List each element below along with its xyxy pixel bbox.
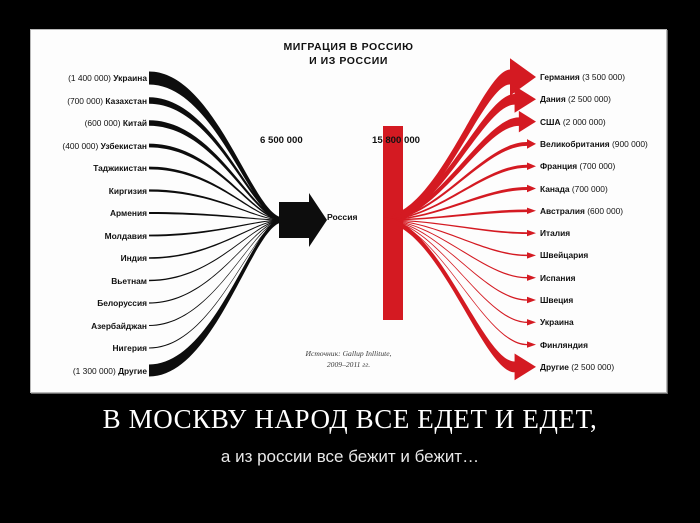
inbound-label-value: (700 000) <box>67 96 103 106</box>
demotivational-poster: МИГРАЦИЯ В РОССИЮ И ИЗ РОССИИ (1 400 000… <box>0 0 700 523</box>
source-citation: Источник: Gallup Inllitute, 2009–2011 гг… <box>31 348 666 370</box>
inbound-flow-band-8 <box>149 220 283 237</box>
inbound-label-10: Вьетнам <box>111 276 147 286</box>
inbound-label-name: Киргизия <box>109 186 147 196</box>
poster-subcaption: а из россии все бежит и бежит… <box>0 447 700 467</box>
outbound-label-name: Франция <box>540 161 577 171</box>
outbound-label-name: Канада <box>540 184 570 194</box>
outbound-label-10: Испания <box>540 273 576 283</box>
outbound-label-name: Украина <box>540 317 574 327</box>
outbound-label-12: Украина <box>540 317 574 327</box>
inbound-label-12: Азербайджан <box>91 321 147 331</box>
inbound-label-value: (600 000) <box>85 118 121 128</box>
inbound-label-11: Белоруссия <box>97 298 147 308</box>
outbound-label-name: Германия <box>540 72 580 82</box>
inbound-label-2: (700 000) Казахстан <box>67 96 147 106</box>
outbound-label-value: (700 000) <box>580 161 616 171</box>
outbound-label-name: Дания <box>540 94 566 104</box>
inbound-label-name: Казахстан <box>105 96 147 106</box>
inbound-flow-group <box>149 72 283 377</box>
outbound-label-6: Канада (700 000) <box>540 184 608 194</box>
hub-arrow-group <box>279 193 327 247</box>
inbound-label-name: Украина <box>113 73 147 83</box>
outbound-label-name: Швейцария <box>540 250 588 260</box>
outbound-label-value: (2 000 000) <box>563 117 606 127</box>
outbound-label-7: Австралия (600 000) <box>540 206 623 216</box>
outbound-label-name: Великобритания <box>540 139 610 149</box>
outbound-label-4: Великобритания (900 000) <box>540 139 648 149</box>
outbound-label-name: Швеция <box>540 295 573 305</box>
inbound-label-value: (1 400 000) <box>68 73 111 83</box>
outbound-flow-band-13 <box>383 220 536 348</box>
hub-label: Россия <box>327 212 358 222</box>
inbound-flow-band-10 <box>149 220 283 282</box>
outbound-label-11: Швеция <box>540 295 573 305</box>
outbound-flow-band-12 <box>383 220 536 326</box>
outbound-label-1: Германия (3 500 000) <box>540 72 625 82</box>
outbound-label-value: (600 000) <box>587 206 623 216</box>
inbound-label-value: (400 000) <box>62 141 98 151</box>
source-line-1: Источник: Gallup Inllitute, <box>31 348 666 359</box>
inbound-label-8: Молдавия <box>105 231 147 241</box>
inbound-label-name: Азербайджан <box>91 321 147 331</box>
outbound-label-value: (700 000) <box>572 184 608 194</box>
inbound-label-name: Таджикистан <box>93 163 147 173</box>
inbound-label-6: Киргизия <box>109 186 147 196</box>
source-line-2: 2009–2011 гг. <box>31 359 666 370</box>
outbound-label-value: (3 500 000) <box>582 72 625 82</box>
outbound-label-value: (900 000) <box>612 139 648 149</box>
outbound-flow-band-2 <box>383 86 536 223</box>
inbound-label-4: (400 000) Узбекистан <box>62 141 147 151</box>
inbound-label-7: Армения <box>110 208 147 218</box>
outbound-label-value: (2 500 000) <box>568 94 611 104</box>
inbound-label-name: Молдавия <box>105 231 147 241</box>
inbound-label-name: Китай <box>123 118 147 128</box>
inbound-label-name: Индия <box>121 253 147 263</box>
outbound-label-name: Испания <box>540 273 576 283</box>
outbound-label-name: Италия <box>540 228 570 238</box>
inbound-label-name: Армения <box>110 208 147 218</box>
hub-arrow-icon <box>279 193 327 247</box>
outbound-label-2: Дания (2 500 000) <box>540 94 611 104</box>
outbound-flow-group <box>383 58 536 380</box>
outbound-label-8: Италия <box>540 228 570 238</box>
inbound-label-9: Индия <box>121 253 147 263</box>
inbound-label-name: Вьетнам <box>111 276 147 286</box>
infographic-panel: МИГРАЦИЯ В РОССИЮ И ИЗ РОССИИ (1 400 000… <box>30 29 667 393</box>
inbound-label-name: Узбекистан <box>101 141 147 151</box>
outbound-label-column: Германия (3 500 000)Дания (2 500 000)США… <box>540 30 668 394</box>
poster-caption: В МОСКВУ НАРОД ВСЕ ЕДЕТ И ЕДЕТ, <box>0 404 700 435</box>
outbound-label-5: Франция (700 000) <box>540 161 615 171</box>
outbound-label-3: США (2 000 000) <box>540 117 606 127</box>
inbound-label-3: (600 000) Китай <box>85 118 147 128</box>
inbound-total-value: 6 500 000 <box>260 135 303 146</box>
outbound-label-name: Австралия <box>540 206 585 216</box>
inbound-label-1: (1 400 000) Украина <box>68 73 147 83</box>
inbound-label-5: Таджикистан <box>93 163 147 173</box>
inbound-label-column: (1 400 000) Украина(700 000) Казахстан(6… <box>31 30 147 394</box>
outbound-label-name: США <box>540 117 561 127</box>
outbound-total-value: 15 800 000 <box>372 135 420 146</box>
outbound-label-9: Швейцария <box>540 250 588 260</box>
inbound-label-name: Белоруссия <box>97 298 147 308</box>
